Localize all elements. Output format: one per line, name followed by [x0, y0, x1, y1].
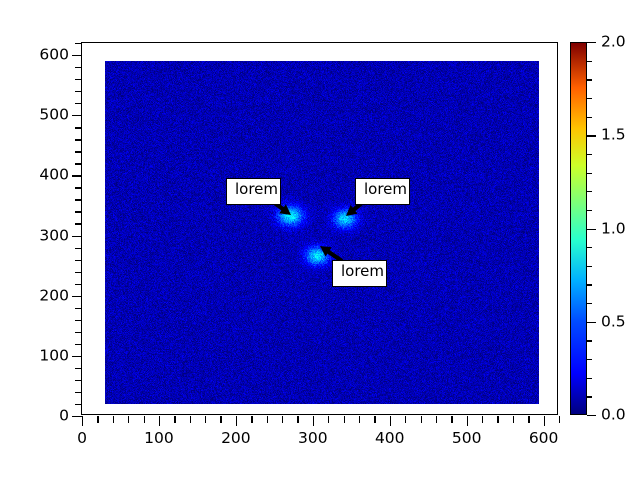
x-tick-label: 600	[529, 431, 559, 447]
y-tick-minor	[75, 67, 82, 68]
colorbar-tick-minor	[587, 340, 592, 341]
colorbar-tick-minor	[587, 359, 592, 360]
y-tick-minor	[75, 223, 82, 224]
colorbar-tick-label: 0.0	[601, 407, 626, 423]
x-tick-label: 100	[144, 431, 174, 447]
x-tick-minor	[205, 416, 206, 423]
colorbar-tick-minor	[587, 210, 592, 211]
x-tick-major	[236, 416, 237, 426]
x-tick-minor	[497, 416, 498, 423]
colorbar-tick-major	[587, 229, 596, 230]
colorbar-tick-minor	[587, 79, 592, 80]
x-tick-minor	[482, 416, 483, 423]
y-tick-major	[72, 236, 82, 237]
y-tick-major	[72, 356, 82, 357]
colorbar-tick-major	[587, 415, 596, 416]
colorbar-tick-minor	[587, 247, 592, 248]
y-tick-major	[72, 55, 82, 56]
annotation-label-1: lorem	[226, 178, 281, 205]
colorbar-tick-minor	[587, 378, 592, 379]
x-tick-label: 200	[221, 431, 251, 447]
y-tick-label: 600	[39, 47, 69, 63]
x-tick-minor	[190, 416, 191, 423]
y-tick-minor	[75, 308, 82, 309]
colorbar: 0.00.51.01.52.0	[570, 42, 587, 415]
colorbar-tick-label: 1.0	[601, 221, 626, 237]
colorbar-tick-label: 0.5	[601, 314, 626, 330]
x-tick-major	[82, 416, 83, 426]
x-tick-minor	[405, 416, 406, 423]
colorbar-tick-major	[587, 322, 596, 323]
y-tick-minor	[75, 103, 82, 104]
x-tick-label: 400	[375, 431, 405, 447]
x-tick-minor	[128, 416, 129, 423]
colorbar-tick-minor	[587, 154, 592, 155]
colorbar-tick-minor	[587, 266, 592, 267]
y-tick-minor	[75, 127, 82, 128]
y-tick-minor	[75, 43, 82, 44]
y-tick-minor	[75, 248, 82, 249]
y-tick-minor	[75, 380, 82, 381]
y-tick-label: 100	[39, 348, 69, 364]
colorbar-tick-minor	[587, 303, 592, 304]
x-tick-minor	[328, 416, 329, 423]
colorbar-tick-label: 2.0	[601, 34, 626, 50]
y-tick-minor	[75, 284, 82, 285]
x-tick-major	[159, 416, 160, 426]
y-tick-minor	[75, 199, 82, 200]
y-tick-minor	[75, 79, 82, 80]
x-tick-minor	[436, 416, 437, 423]
x-tick-label: 300	[298, 431, 328, 447]
x-tick-major	[390, 416, 391, 426]
y-tick-major	[72, 175, 82, 176]
y-tick-minor	[75, 139, 82, 140]
y-tick-minor	[75, 163, 82, 164]
x-tick-minor	[144, 416, 145, 423]
x-tick-minor	[513, 416, 514, 423]
y-tick-label: 300	[39, 228, 69, 244]
y-tick-label: 400	[39, 168, 69, 184]
y-tick-minor	[75, 332, 82, 333]
y-tick-minor	[75, 211, 82, 212]
y-tick-minor	[75, 91, 82, 92]
x-tick-minor	[251, 416, 252, 423]
annotation-label-3: lorem	[332, 260, 387, 287]
x-tick-minor	[528, 416, 529, 423]
x-tick-minor	[559, 416, 560, 423]
colorbar-tick-minor	[587, 61, 592, 62]
y-tick-minor	[75, 260, 82, 261]
y-tick-major	[72, 296, 82, 297]
x-tick-minor	[267, 416, 268, 423]
x-tick-minor	[421, 416, 422, 423]
heatmap-image	[105, 61, 539, 404]
x-tick-minor	[220, 416, 221, 423]
colorbar-tick-major	[587, 42, 596, 43]
x-tick-label: 500	[452, 431, 482, 447]
y-tick-minor	[75, 151, 82, 152]
colorbar-tick-minor	[587, 173, 592, 174]
y-tick-minor	[75, 404, 82, 405]
x-tick-minor	[113, 416, 114, 423]
plot-axes-frame: 0100200300400500600 0100200300400500600	[81, 42, 558, 415]
x-tick-major	[313, 416, 314, 426]
x-tick-minor	[282, 416, 283, 423]
colorbar-tick-minor	[587, 191, 592, 192]
x-tick-minor	[374, 416, 375, 423]
x-tick-minor	[174, 416, 175, 423]
x-tick-label: 0	[77, 431, 87, 447]
y-tick-label: 0	[59, 408, 69, 424]
colorbar-tick-label: 1.5	[601, 128, 626, 144]
y-tick-label: 500	[39, 107, 69, 123]
y-tick-minor	[75, 187, 82, 188]
y-tick-minor	[75, 344, 82, 345]
y-tick-major	[72, 416, 82, 417]
colorbar-tick-major	[587, 135, 596, 136]
x-tick-minor	[97, 416, 98, 423]
colorbar-tick-minor	[587, 98, 592, 99]
annotation-label-2: lorem	[355, 178, 410, 205]
x-tick-major	[544, 416, 545, 426]
x-tick-minor	[297, 416, 298, 423]
y-tick-minor	[75, 320, 82, 321]
y-tick-label: 200	[39, 288, 69, 304]
x-tick-minor	[359, 416, 360, 423]
y-tick-minor	[75, 392, 82, 393]
figure-canvas: 0100200300400500600 0100200300400500600 …	[0, 0, 640, 480]
x-tick-major	[467, 416, 468, 426]
colorbar-gradient	[570, 42, 587, 415]
x-tick-minor	[344, 416, 345, 423]
y-tick-minor	[75, 272, 82, 273]
y-tick-minor	[75, 368, 82, 369]
colorbar-tick-minor	[587, 117, 592, 118]
colorbar-tick-minor	[587, 284, 592, 285]
colorbar-tick-minor	[587, 396, 592, 397]
x-tick-minor	[451, 416, 452, 423]
y-tick-major	[72, 115, 82, 116]
